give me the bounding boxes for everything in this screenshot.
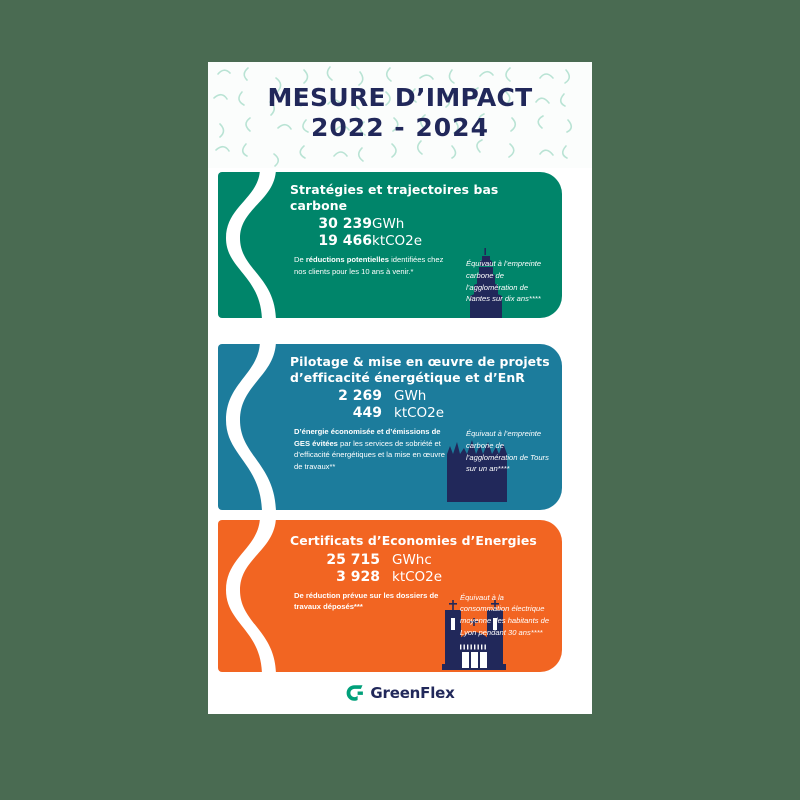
stat-value: 19 466 bbox=[296, 233, 372, 249]
footer-branding: GreenFlex bbox=[208, 672, 592, 714]
stat-row: 19 466 ktCO2e bbox=[296, 233, 556, 249]
swoosh-ribbon-icon bbox=[220, 344, 282, 510]
panel-description: D’énergie économisée et d’émissions de G… bbox=[294, 426, 446, 472]
stat-row: 3 928 ktCO2e bbox=[304, 569, 556, 585]
stat-unit: ktCO2e bbox=[392, 569, 442, 585]
panel-title: Pilotage & mise en œuvre de projets d’ef… bbox=[290, 344, 556, 385]
panel-description: De réduction prévue sur les dossiers de … bbox=[294, 590, 454, 613]
infographic-canvas: MESURE D’IMPACT 2022 - 2024 Stratégies e… bbox=[0, 0, 800, 800]
stat-unit: ktCO2e bbox=[394, 405, 444, 421]
infographic-card: MESURE D’IMPACT 2022 - 2024 Stratégies e… bbox=[208, 62, 592, 714]
panel-title: Certificats d’Economies d’Energies bbox=[290, 520, 556, 549]
stat-unit: GWhc bbox=[392, 552, 432, 568]
stat-value: 2 269 bbox=[306, 388, 382, 404]
stat-row: 25 715 GWhc bbox=[304, 552, 556, 568]
stat-unit: GWh bbox=[372, 216, 404, 232]
panel-stats: 2 269 GWh 449 ktCO2e bbox=[290, 388, 556, 421]
panel-strategies[interactable]: Stratégies et trajectoires bas carbone 3… bbox=[218, 172, 562, 318]
panel-certificats[interactable]: Certificats d’Economies d’Energies 25 71… bbox=[218, 520, 562, 672]
stat-value: 3 928 bbox=[304, 569, 380, 585]
stat-row: 449 ktCO2e bbox=[306, 405, 556, 421]
stat-row: 2 269 GWh bbox=[306, 388, 556, 404]
stat-value: 30 239 bbox=[296, 216, 372, 232]
stat-unit: ktCO2e bbox=[372, 233, 422, 249]
panel-stats: 30 239 GWh 19 466 ktCO2e bbox=[290, 216, 556, 249]
swoosh-ribbon-icon bbox=[220, 172, 282, 318]
page-title: MESURE D’IMPACT bbox=[208, 85, 592, 111]
swoosh-ribbon-icon bbox=[220, 520, 282, 672]
panel-stats: 25 715 GWhc 3 928 ktCO2e bbox=[290, 552, 556, 585]
panel-title: Stratégies et trajectoires bas carbone bbox=[290, 172, 556, 213]
panel-equivalence: Équivaut à l’empreinte carbone de l’aggl… bbox=[466, 258, 552, 305]
stat-unit: GWh bbox=[394, 388, 426, 404]
greenflex-g-icon bbox=[345, 683, 365, 703]
stat-value: 449 bbox=[306, 405, 382, 421]
panel-description: De réductions potentielles identifiées c… bbox=[294, 254, 446, 277]
stat-value: 25 715 bbox=[304, 552, 380, 568]
panel-pilotage[interactable]: Pilotage & mise en œuvre de projets d’ef… bbox=[218, 344, 562, 510]
page-subtitle-period: 2022 - 2024 bbox=[208, 115, 592, 141]
greenflex-wordmark: GreenFlex bbox=[370, 684, 454, 702]
panel-equivalence: Équivaut à l’empreinte carbone de l’aggl… bbox=[466, 428, 552, 475]
header-section: MESURE D’IMPACT 2022 - 2024 bbox=[208, 62, 592, 168]
stat-row: 30 239 GWh bbox=[296, 216, 556, 232]
panel-equivalence: Équivaut à la consommation électrique mo… bbox=[460, 592, 552, 639]
